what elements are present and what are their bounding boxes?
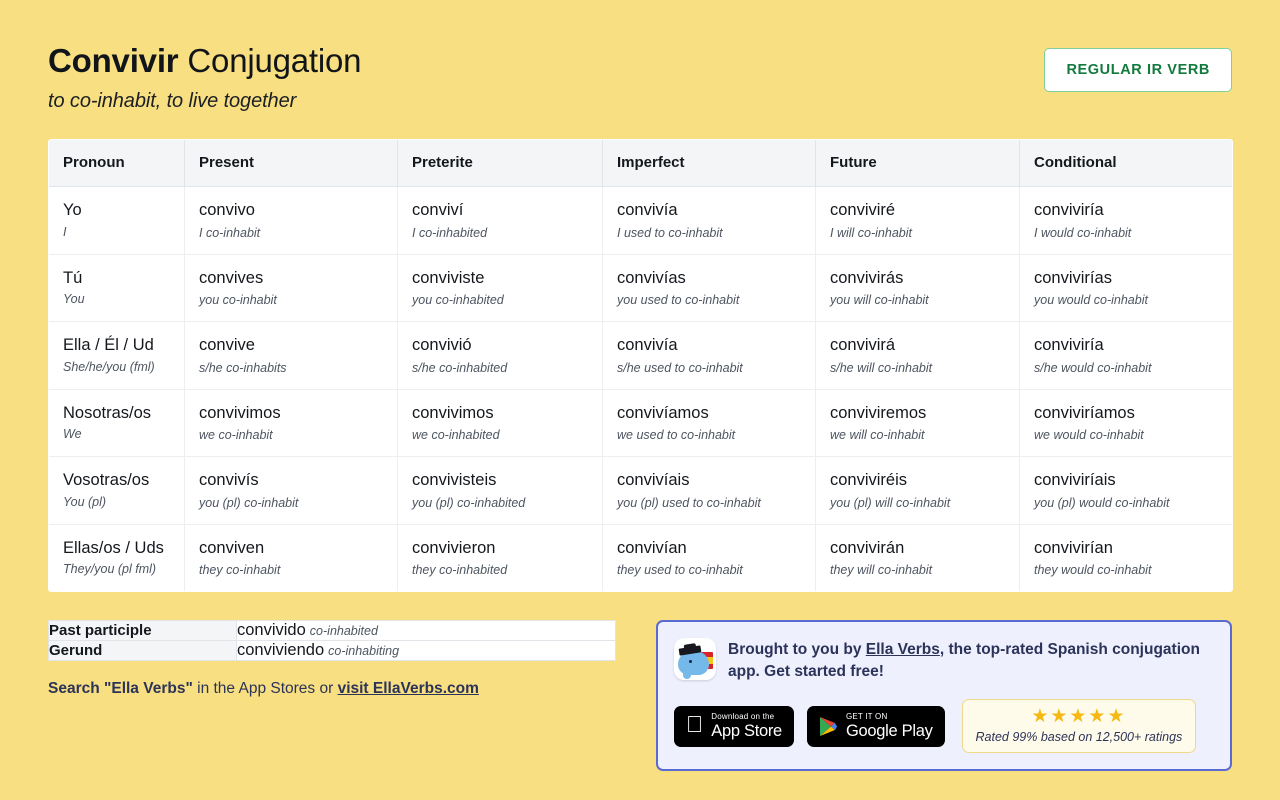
past-participle-label: Past participle <box>49 621 237 641</box>
conjugated-form: convivimos <box>199 402 383 424</box>
pronoun-gloss: They/you (pl fml) <box>63 562 170 576</box>
table-row: TúYouconvivesyou co-inhabitconvivisteyou… <box>49 254 1233 322</box>
conjugation-cell: convivisteyou co-inhabited <box>398 254 603 322</box>
conjugation-gloss: you (pl) used to co-inhabit <box>617 495 801 511</box>
pronoun-gloss: I <box>63 225 170 239</box>
conjugation-cell: convivirás/he will co-inhabit <box>816 322 1020 390</box>
conjugation-gloss: we would co-inhabit <box>1034 427 1218 443</box>
conjugated-form: convivo <box>199 199 383 221</box>
conjugation-cell: convivíI co-inhabited <box>398 187 603 255</box>
past-participle-form: convivido <box>237 621 306 639</box>
conjugated-form: conviviríais <box>1034 469 1218 491</box>
conjugated-form: conviviré <box>830 199 1005 221</box>
bottom-section: Past participle convividoco-inhabited Ge… <box>48 620 1232 771</box>
conjugation-gloss: s/he co-inhabits <box>199 360 383 376</box>
conjugated-form: conviví <box>412 199 588 221</box>
column-header-preterite: Preterite <box>398 140 603 187</box>
conjugated-form: convivíamos <box>617 402 801 424</box>
conjugated-form: convivirá <box>830 334 1005 356</box>
conjugation-gloss: I co-inhabit <box>199 225 383 241</box>
conjugation-gloss: you would co-inhabit <box>1034 292 1218 308</box>
conjugation-gloss: we will co-inhabit <box>830 427 1005 443</box>
ella-verbs-app-icon <box>674 638 716 680</box>
conjugation-gloss: they co-inhabit <box>199 562 383 578</box>
promo-text: Brought to you by Ella Verbs, the top-ra… <box>728 638 1212 683</box>
pronoun-cell: Vosotras/osYou (pl) <box>49 457 185 525</box>
conjugated-form: conviviría <box>1034 334 1218 356</box>
conjugation-cell: conviviréI will co-inhabit <box>816 187 1020 255</box>
conjugation-gloss: you will co-inhabit <box>830 292 1005 308</box>
conjugated-form: convivió <box>412 334 588 356</box>
conjugated-form: convivirían <box>1034 537 1218 559</box>
conjugation-gloss: we used to co-inhabit <box>617 427 801 443</box>
apple-logo-icon:  <box>686 713 703 736</box>
conjugation-cell: conviviríamoswe would co-inhabit <box>1020 389 1233 457</box>
conjugated-form: convives <box>199 267 383 289</box>
rating-text: Rated 99% based on 12,500+ ratings <box>976 730 1183 744</box>
verb-translation: to co-inhabit, to live together <box>48 90 1232 113</box>
conjugation-gloss: we co-inhabited <box>412 427 588 443</box>
rating-box: ★★★★★ Rated 99% based on 12,500+ ratings <box>962 699 1197 753</box>
conjugation-cell: convivías/he used to co-inhabit <box>603 322 816 390</box>
conjugated-form: convivirán <box>830 537 1005 559</box>
conjugation-cell: convives/he co-inhabits <box>185 322 398 390</box>
conjugation-gloss: we co-inhabit <box>199 427 383 443</box>
table-row-past-participle: Past participle convividoco-inhabited <box>49 621 616 641</box>
pronoun-text: Vosotras/os <box>63 469 170 491</box>
promo-text-before: Brought to you by <box>728 641 866 658</box>
pronoun-gloss: You <box>63 292 170 306</box>
pronoun-cell: Ella / Él / UdShe/he/you (fml) <box>49 322 185 390</box>
google-play-small-label: GET IT ON <box>846 713 933 721</box>
ellaverbs-website-link[interactable]: visit EllaVerbs.com <box>338 680 479 697</box>
conjugation-cell: conviviremoswe will co-inhabit <box>816 389 1020 457</box>
conjugation-gloss: I used to co-inhabit <box>617 225 801 241</box>
column-header-present: Present <box>185 140 398 187</box>
conjugation-cell: convivíanthey used to co-inhabit <box>603 524 816 592</box>
table-row: Vosotras/osYou (pl)convivísyou (pl) co-i… <box>49 457 1233 525</box>
conjugation-cell: conviventhey co-inhabit <box>185 524 398 592</box>
conjugation-cell: convivirásyou will co-inhabit <box>816 254 1020 322</box>
app-store-big-label: App Store <box>711 723 782 740</box>
table-row: Ella / Él / UdShe/he/you (fml)convives/h… <box>49 322 1233 390</box>
pronoun-gloss: You (pl) <box>63 495 170 509</box>
conjugated-form: convive <box>199 334 383 356</box>
conjugation-gloss: you (pl) will co-inhabit <box>830 495 1005 511</box>
conjugation-gloss: s/he will co-inhabit <box>830 360 1005 376</box>
pronoun-cell: YoI <box>49 187 185 255</box>
gerund-gloss: co-inhabiting <box>328 644 399 658</box>
pronoun-cell: Ellas/os / UdsThey/you (pl fml) <box>49 524 185 592</box>
page-header: Convivir Conjugation to co-inhabit, to l… <box>48 0 1232 113</box>
pronoun-gloss: We <box>63 427 170 441</box>
search-prompt: Search "Ella Verbs" in the App Stores or… <box>48 680 616 698</box>
conjugation-gloss: they co-inhabited <box>412 562 588 578</box>
nonfinite-forms-table: Past participle convividoco-inhabited Ge… <box>48 620 616 661</box>
google-play-logo-icon <box>819 716 838 737</box>
conjugation-cell: convivisteisyou (pl) co-inhabited <box>398 457 603 525</box>
conjugation-gloss: they would co-inhabit <box>1034 562 1218 578</box>
conjugation-cell: conviviréisyou (pl) will co-inhabit <box>816 457 1020 525</box>
ella-verbs-link[interactable]: Ella Verbs <box>866 641 940 658</box>
column-header-imperfect: Imperfect <box>603 140 816 187</box>
app-store-small-label: Download on the <box>711 713 782 721</box>
google-play-big-label: Google Play <box>846 723 933 740</box>
conjugation-cell: convivimoswe co-inhabited <box>398 389 603 457</box>
conjugation-gloss: they will co-inhabit <box>830 562 1005 578</box>
pronoun-cell: Nosotras/osWe <box>49 389 185 457</box>
pronoun-text: Tú <box>63 267 170 289</box>
table-row: YoIconvivoI co-inhabitconvivíI co-inhabi… <box>49 187 1233 255</box>
conjugation-cell: convivimoswe co-inhabit <box>185 389 398 457</box>
conjugation-cell: convivíamoswe used to co-inhabit <box>603 389 816 457</box>
star-rating-icon: ★★★★★ <box>976 707 1183 728</box>
gerund-label: Gerund <box>49 641 237 661</box>
conjugated-form: conviviríamos <box>1034 402 1218 424</box>
column-header-future: Future <box>816 140 1020 187</box>
conjugation-cell: convivoI co-inhabit <box>185 187 398 255</box>
conjugated-form: convivirás <box>830 267 1005 289</box>
conjugated-form: convivirías <box>1034 267 1218 289</box>
conjugation-cell: convivísyou (pl) co-inhabit <box>185 457 398 525</box>
conjugation-cell: conviviríanthey would co-inhabit <box>1020 524 1233 592</box>
conjugation-cell: convivirías/he would co-inhabit <box>1020 322 1233 390</box>
conjugation-gloss: you co-inhabit <box>199 292 383 308</box>
conjugation-gloss: s/he co-inhabited <box>412 360 588 376</box>
conjugation-gloss: you (pl) co-inhabit <box>199 495 383 511</box>
promo-bottom-row:  Download on the App Store <box>674 699 1212 753</box>
pronoun-text: Nosotras/os <box>63 402 170 424</box>
conjugation-gloss: I will co-inhabit <box>830 225 1005 241</box>
search-prompt-bold: Search "Ella Verbs" <box>48 680 193 697</box>
app-store-label: Download on the App Store <box>711 713 782 740</box>
gerund-form: conviviendo <box>237 641 324 659</box>
conjugation-gloss: you (pl) would co-inhabit <box>1034 495 1218 511</box>
conjugation-cell: conviviránthey will co-inhabit <box>816 524 1020 592</box>
conjugation-gloss: s/he used to co-inhabit <box>617 360 801 376</box>
past-participle-value: convividoco-inhabited <box>237 621 616 641</box>
conjugated-form: convivían <box>617 537 801 559</box>
page-root: Convivir Conjugation to co-inhabit, to l… <box>0 0 1280 800</box>
conjugated-form: convivimos <box>412 402 588 424</box>
verb-type-badge: REGULAR IR VERB <box>1044 48 1232 92</box>
conjugation-cell: conviviríasyou would co-inhabit <box>1020 254 1233 322</box>
conjugation-cell: convivíaI used to co-inhabit <box>603 187 816 255</box>
pronoun-cell: TúYou <box>49 254 185 322</box>
conjugation-cell: convivieronthey co-inhabited <box>398 524 603 592</box>
promo-top-row: Brought to you by Ella Verbs, the top-ra… <box>674 638 1212 683</box>
conjugation-cell: convivíaisyou (pl) used to co-inhabit <box>603 457 816 525</box>
conjugation-gloss: I co-inhabited <box>412 225 588 241</box>
promo-banner: Brought to you by Ella Verbs, the top-ra… <box>656 620 1232 771</box>
conjugated-form: conviviste <box>412 267 588 289</box>
conjugated-form: convivisteis <box>412 469 588 491</box>
google-play-button[interactable]: GET IT ON Google Play <box>807 706 945 747</box>
column-header-pronoun: Pronoun <box>49 140 185 187</box>
conjugation-table: Pronoun Present Preterite Imperfect Futu… <box>48 139 1233 592</box>
conjugated-form: conviviréis <box>830 469 1005 491</box>
conjugated-form: convivís <box>199 469 383 491</box>
conjugation-cell: conviviós/he co-inhabited <box>398 322 603 390</box>
conjugated-form: conviviría <box>1034 199 1218 221</box>
table-row: Nosotras/osWeconvivimoswe co-inhabitconv… <box>49 389 1233 457</box>
conjugated-form: conviviremos <box>830 402 1005 424</box>
conjugated-form: convivieron <box>412 537 588 559</box>
conjugation-gloss: you co-inhabited <box>412 292 588 308</box>
conjugation-cell: convivíasyou used to co-inhabit <box>603 254 816 322</box>
bottom-left-column: Past participle convividoco-inhabited Ge… <box>48 620 616 698</box>
conjugation-gloss: s/he would co-inhabit <box>1034 360 1218 376</box>
conjugation-cell: conviviríaisyou (pl) would co-inhabit <box>1020 457 1233 525</box>
search-prompt-middle: in the App Stores or <box>193 680 338 697</box>
column-header-conditional: Conditional <box>1020 140 1233 187</box>
conjugated-form: convivías <box>617 267 801 289</box>
conjugation-cell: convivesyou co-inhabit <box>185 254 398 322</box>
past-participle-gloss: co-inhabited <box>310 624 378 638</box>
conjugated-form: conviven <box>199 537 383 559</box>
verb-name: Convivir <box>48 42 178 79</box>
table-row-gerund: Gerund conviviendoco-inhabiting <box>49 641 616 661</box>
conjugation-cell: conviviríaI would co-inhabit <box>1020 187 1233 255</box>
page-title-suffix: Conjugation <box>178 42 361 79</box>
conjugated-form: convivíais <box>617 469 801 491</box>
google-play-label: GET IT ON Google Play <box>846 713 933 740</box>
gerund-value: conviviendoco-inhabiting <box>237 641 616 661</box>
conjugated-form: convivía <box>617 199 801 221</box>
elephant-trunk-icon <box>683 664 691 679</box>
table-header-row: Pronoun Present Preterite Imperfect Futu… <box>49 140 1233 187</box>
pronoun-text: Yo <box>63 199 170 221</box>
conjugation-gloss: they used to co-inhabit <box>617 562 801 578</box>
app-store-button[interactable]:  Download on the App Store <box>674 706 794 747</box>
table-row: Ellas/os / UdsThey/you (pl fml)convivent… <box>49 524 1233 592</box>
pronoun-gloss: She/he/you (fml) <box>63 360 170 374</box>
conjugation-gloss: you used to co-inhabit <box>617 292 801 308</box>
conjugated-form: convivía <box>617 334 801 356</box>
conjugation-gloss: you (pl) co-inhabited <box>412 495 588 511</box>
conjugation-gloss: I would co-inhabit <box>1034 225 1218 241</box>
pronoun-text: Ellas/os / Uds <box>63 537 170 559</box>
pronoun-text: Ella / Él / Ud <box>63 334 170 356</box>
